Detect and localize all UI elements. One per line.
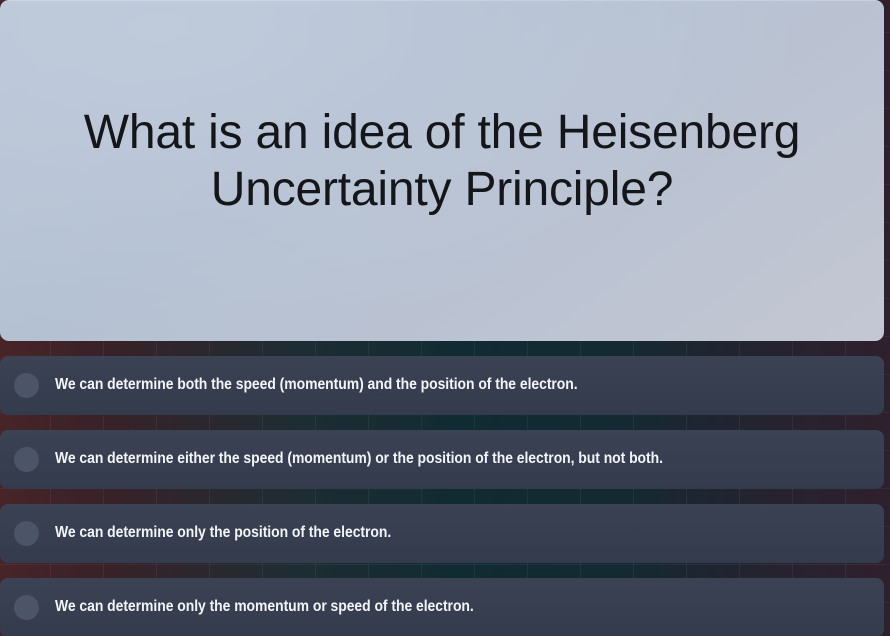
quiz-screen: What is an idea of the Heisenberg Uncert…: [0, 0, 890, 636]
radio-unselected-icon[interactable]: [14, 595, 39, 620]
answer-option-3-label: We can determine only the position of th…: [55, 524, 391, 543]
radio-unselected-icon[interactable]: [14, 521, 39, 546]
question-card: What is an idea of the Heisenberg Uncert…: [0, 0, 884, 341]
radio-unselected-icon[interactable]: [14, 447, 39, 472]
answer-option-2-label: We can determine either the speed (momen…: [55, 450, 663, 469]
question-text: What is an idea of the Heisenberg Uncert…: [48, 105, 836, 218]
answer-option-1[interactable]: We can determine both the speed (momentu…: [0, 356, 884, 415]
answer-option-2[interactable]: We can determine either the speed (momen…: [0, 430, 884, 489]
answer-option-4-label: We can determine only the momentum or sp…: [55, 598, 474, 617]
radio-unselected-icon[interactable]: [14, 373, 39, 398]
answer-option-3[interactable]: We can determine only the position of th…: [0, 504, 884, 563]
answer-option-4[interactable]: We can determine only the momentum or sp…: [0, 578, 884, 636]
answer-option-1-label: We can determine both the speed (momentu…: [55, 376, 578, 395]
